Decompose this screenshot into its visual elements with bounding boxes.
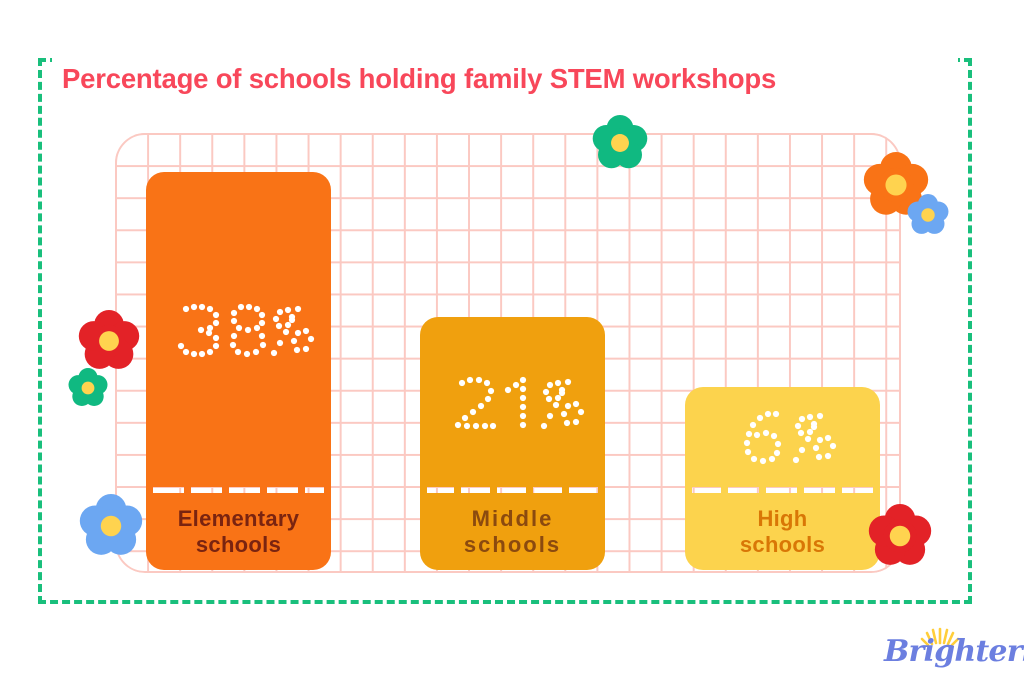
bar-label-elementary: Elementary schools [178,506,300,558]
dotted-value-38 [146,302,331,358]
flower-red-left-icon [78,310,140,377]
bar-value-middle [420,375,605,438]
bar-value-high [685,409,880,472]
bar-value-elementary [146,302,331,365]
bar-label-middle: Middle schools [464,506,561,558]
flower-red-bottomright-icon [868,504,932,573]
bar-footer-middle: Middle schools [420,493,605,570]
dotted-value-21 [420,375,605,431]
bar-elementary-schools[interactable]: Elementary schools [146,172,331,570]
bar-middle-schools[interactable]: Middle schools [420,317,605,570]
flower-blue-topright-icon [907,194,949,241]
flower-blue-bottomleft-icon [79,494,143,563]
dotted-value-6 [685,409,880,465]
flower-green-left-icon [68,368,108,413]
bar-high-schools[interactable]: High schools [685,387,880,570]
bar-footer-high: High schools [685,493,880,570]
bar-label-high: High schools [740,506,825,558]
brighterly-logo[interactable]: Brighterly [884,629,1014,675]
bar-footer-elementary: Elementary schools [146,493,331,570]
logo-wordmark: Brighterly [884,635,1024,669]
flower-green-top-icon [592,115,648,176]
chart-canvas: Percentage of schools holding family STE… [0,0,1024,683]
chart-title: Percentage of schools holding family STE… [62,60,962,98]
